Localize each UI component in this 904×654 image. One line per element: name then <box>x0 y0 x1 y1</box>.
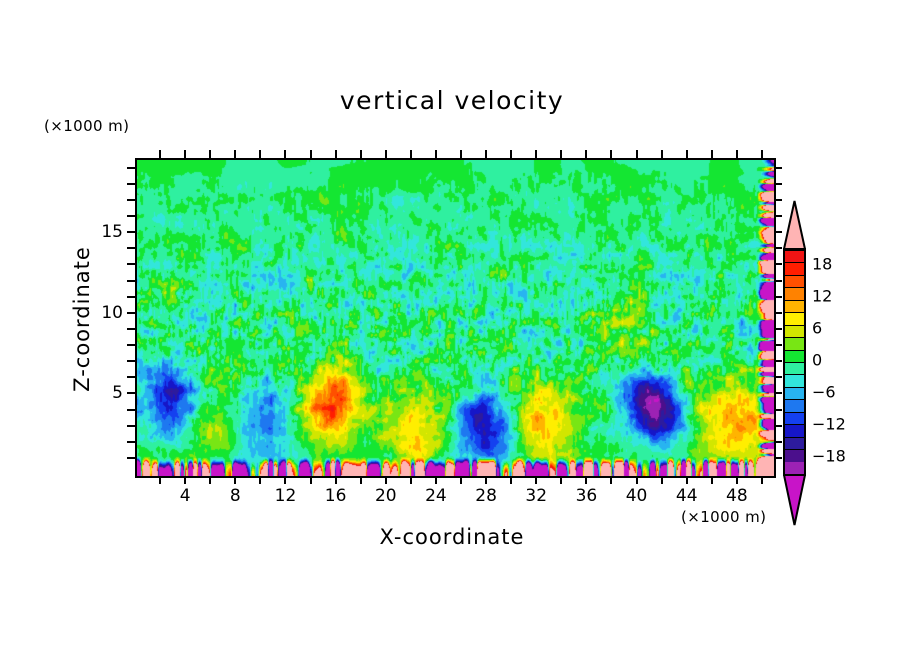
x-tick-top <box>610 150 612 158</box>
x-tick-label: 24 <box>425 486 447 506</box>
colorbar-separator <box>785 250 804 251</box>
colorbar-separator <box>785 412 804 413</box>
x-tick-top <box>360 150 362 158</box>
colorbar-band <box>785 462 804 474</box>
y-tick <box>127 199 135 201</box>
y-tick-right <box>774 231 782 233</box>
y-tick-right <box>774 183 782 185</box>
x-tick-label: 36 <box>576 486 598 506</box>
x-tick-top <box>310 150 312 158</box>
colorbar-separator <box>785 325 804 326</box>
colorbar-band <box>785 449 804 462</box>
x-tick-top <box>435 150 437 158</box>
colorbar-separator <box>785 449 804 450</box>
y-tick <box>127 296 135 298</box>
colorbar-band <box>785 325 804 337</box>
y-tick-right <box>774 247 782 249</box>
x-tick-top <box>385 150 387 158</box>
y-tick <box>127 441 135 443</box>
x-tick-top <box>159 150 161 158</box>
colorbar-separator <box>785 287 804 288</box>
colorbar-band <box>785 337 804 350</box>
colorbar-separator <box>785 437 804 438</box>
x-tick-top <box>686 150 688 158</box>
x-tick <box>686 476 688 484</box>
y-tick <box>127 376 135 378</box>
x-tick-top <box>510 150 512 158</box>
contour-plot-area <box>135 158 776 478</box>
x-tick <box>335 476 337 484</box>
y-tick <box>127 409 135 411</box>
x-tick <box>661 476 663 484</box>
colorbar-band <box>785 387 804 399</box>
x-tick-label: 48 <box>726 486 748 506</box>
x-tick <box>259 476 261 484</box>
y-tick <box>127 167 135 169</box>
colorbar-tick-label: −12 <box>812 415 846 434</box>
x-tick-label: 4 <box>180 486 191 506</box>
x-tick-top <box>636 150 638 158</box>
x-axis-title: X-coordinate <box>0 525 904 549</box>
y-tick <box>127 183 135 185</box>
y-axis-unit-label: (×1000 m) <box>44 117 129 135</box>
colorbar-tick-label: −6 <box>812 383 836 402</box>
x-tick <box>711 476 713 484</box>
colorbar-separator <box>785 399 804 400</box>
x-tick <box>234 476 236 484</box>
x-tick <box>585 476 587 484</box>
x-tick <box>284 476 286 484</box>
colorbar-tick-label: 6 <box>812 319 822 338</box>
colorbar-band <box>785 350 804 362</box>
colorbar-tick-label: 12 <box>812 287 832 306</box>
colorbar-tick-label: 18 <box>812 255 832 274</box>
colorbar-band <box>785 262 804 275</box>
colorbar-band <box>785 437 804 449</box>
y-tick-right <box>774 296 782 298</box>
x-tick <box>385 476 387 484</box>
y-tick-right <box>774 344 782 346</box>
x-tick <box>310 476 312 484</box>
y-axis-title: Z-coordinate <box>70 209 94 429</box>
x-tick-top <box>234 150 236 158</box>
colorbar-band <box>785 399 804 412</box>
colorbar-band <box>785 250 804 262</box>
y-tick <box>127 425 135 427</box>
x-tick <box>560 476 562 484</box>
page-title: vertical velocity <box>0 86 904 115</box>
colorbar-tick-label: 0 <box>812 351 822 370</box>
x-tick <box>184 476 186 484</box>
y-tick <box>127 360 135 362</box>
x-tick-top <box>485 150 487 158</box>
y-tick <box>127 263 135 265</box>
colorbar-band <box>785 424 804 437</box>
x-tick-top <box>736 150 738 158</box>
y-tick-right <box>774 457 782 459</box>
x-tick-top <box>761 150 763 158</box>
y-tick-right <box>774 328 782 330</box>
x-tick-top <box>284 150 286 158</box>
y-tick-right <box>774 280 782 282</box>
y-tick-right <box>774 199 782 201</box>
colorbar-separator <box>785 350 804 351</box>
colorbar-tick-label: −18 <box>812 447 846 466</box>
x-tick <box>410 476 412 484</box>
x-tick-label: 12 <box>275 486 297 506</box>
colorbar-separator <box>785 374 804 375</box>
colorbar-band <box>785 412 804 424</box>
y-tick-right <box>774 312 782 314</box>
colorbar <box>783 248 806 476</box>
colorbar-cap-top <box>783 200 806 250</box>
colorbar-cap-bottom <box>783 474 806 526</box>
x-tick-label: 44 <box>676 486 698 506</box>
colorbar-separator <box>785 262 804 263</box>
y-tick <box>127 215 135 217</box>
y-tick <box>127 280 135 282</box>
x-tick-top <box>460 150 462 158</box>
y-tick-right <box>774 360 782 362</box>
x-tick <box>535 476 537 484</box>
colorbar-band <box>785 275 804 287</box>
colorbar-separator <box>785 424 804 425</box>
x-tick-label: 28 <box>475 486 497 506</box>
colorbar-band <box>785 312 804 325</box>
x-tick-label: 32 <box>525 486 547 506</box>
x-tick-top <box>585 150 587 158</box>
x-tick-label: 40 <box>626 486 648 506</box>
y-tick <box>127 392 135 394</box>
colorbar-band <box>785 362 804 374</box>
x-tick-top <box>560 150 562 158</box>
x-tick <box>761 476 763 484</box>
y-tick-right <box>774 441 782 443</box>
colorbar-separator <box>785 300 804 301</box>
colorbar-separator <box>785 312 804 313</box>
x-tick <box>736 476 738 484</box>
x-tick <box>485 476 487 484</box>
x-tick-label: 20 <box>375 486 397 506</box>
x-tick-top <box>410 150 412 158</box>
figure-canvas: vertical velocity (×1000 m) (×1000 m) 48… <box>0 0 904 654</box>
x-tick <box>636 476 638 484</box>
x-tick-top <box>535 150 537 158</box>
x-tick-label: 16 <box>325 486 347 506</box>
x-tick <box>435 476 437 484</box>
y-tick <box>127 457 135 459</box>
y-tick <box>127 328 135 330</box>
x-tick <box>510 476 512 484</box>
x-tick-top <box>259 150 261 158</box>
x-tick-top <box>184 150 186 158</box>
x-tick-label: 8 <box>230 486 241 506</box>
colorbar-band <box>785 300 804 312</box>
y-tick-right <box>774 409 782 411</box>
x-tick-top <box>661 150 663 158</box>
x-tick-top <box>711 150 713 158</box>
y-tick <box>127 344 135 346</box>
colorbar-separator <box>785 387 804 388</box>
y-tick-right <box>774 376 782 378</box>
x-tick <box>610 476 612 484</box>
x-tick <box>360 476 362 484</box>
x-axis-unit-label: (×1000 m) <box>681 508 766 526</box>
y-tick <box>127 312 135 314</box>
x-tick-top <box>209 150 211 158</box>
y-tick <box>127 247 135 249</box>
vertical-velocity-field <box>137 160 774 476</box>
y-tick <box>127 231 135 233</box>
x-tick <box>159 476 161 484</box>
colorbar-band <box>785 287 804 300</box>
x-tick-top <box>335 150 337 158</box>
y-tick-right <box>774 392 782 394</box>
x-tick <box>460 476 462 484</box>
colorbar-separator <box>785 337 804 338</box>
colorbar-separator <box>785 275 804 276</box>
y-tick-right <box>774 425 782 427</box>
colorbar-band <box>785 374 804 387</box>
y-tick-right <box>774 167 782 169</box>
y-tick-right <box>774 215 782 217</box>
x-tick <box>209 476 211 484</box>
y-tick-right <box>774 263 782 265</box>
colorbar-separator <box>785 362 804 363</box>
